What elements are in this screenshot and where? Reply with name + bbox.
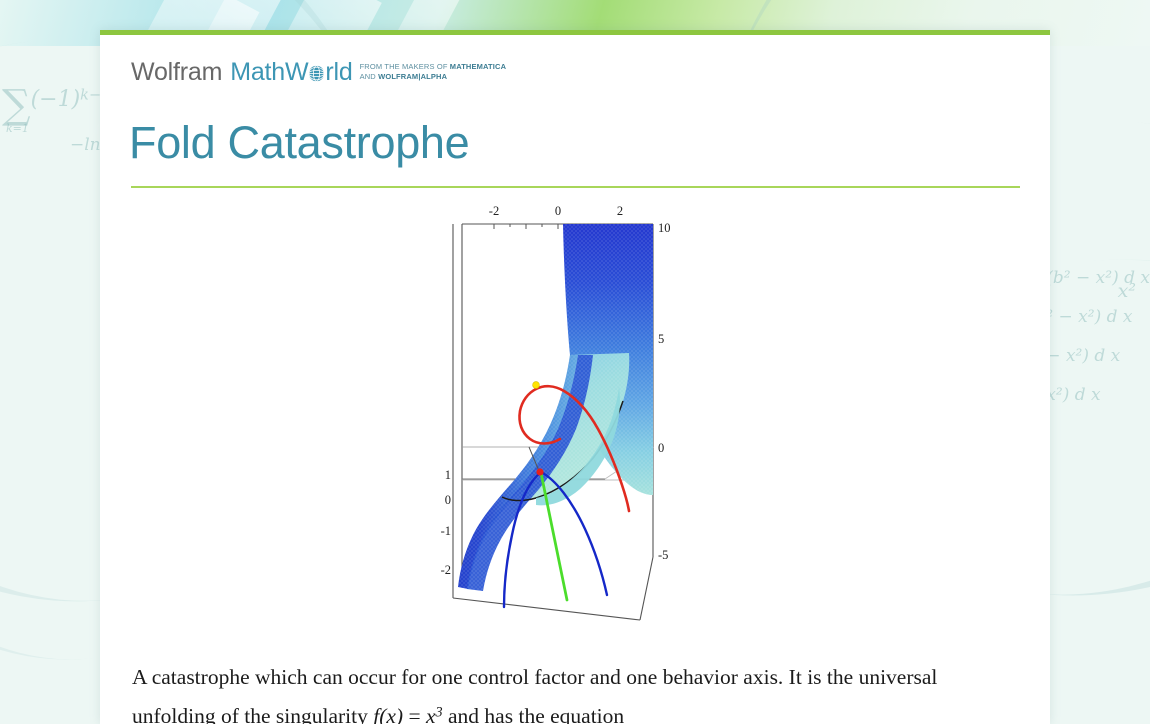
logo-math-text: Math [230, 60, 285, 85]
axis-right-tick-label: 0 [658, 441, 664, 455]
axis-top-tick-label: -2 [489, 204, 499, 218]
logo-mathworld-text[interactable]: MathW rld [230, 60, 352, 85]
axis-top-tick-label: 2 [617, 204, 623, 218]
math-of-x: (x) [379, 704, 403, 724]
background-formula-row: ² − x²) d x [1046, 309, 1150, 326]
tagline-line1: From the makers of Mathematica [360, 62, 507, 71]
background-formula-ln: −ln [70, 135, 101, 155]
title-divider [131, 186, 1020, 188]
logo-wolfram-text[interactable]: Wolfram [131, 60, 222, 85]
background-formula-row: − x²) d x [1046, 348, 1150, 365]
axis-right-tick-label: -5 [658, 548, 668, 562]
axis-left-tick-label: -2 [441, 563, 451, 577]
background-formula-integrals: (b² − x²) d x ² − x²) d x − x²) d x x²) … [1046, 270, 1150, 426]
axis-top-tick-label: 0 [555, 204, 561, 218]
fold-catastrophe-plot: -2 0 2 [440, 195, 800, 665]
axis-left: 1 0 -1 -2 [441, 468, 451, 577]
math-x: x [426, 704, 436, 724]
body-line-1: A catastrophe which can occur for one co… [132, 665, 853, 689]
background-formula-row: (b² − x²) d x [1046, 270, 1150, 287]
axis-left-tick-label: -1 [441, 524, 451, 538]
math-equals: = [408, 704, 420, 724]
content-card: Wolfram MathW rld From the makers of Mat… [100, 30, 1050, 724]
axis-left-tick-label: 1 [445, 468, 451, 482]
tagline-wolfram-alpha: Wolfram|Alpha [378, 72, 447, 81]
background-formula-row: x²) d x [1046, 387, 1150, 404]
tagline-line1-prefix: From the makers of [360, 62, 450, 71]
axis-right-tick-label: 10 [658, 221, 671, 235]
logo-tagline: From the makers of Mathematica and Wolfr… [360, 62, 507, 85]
site-header[interactable]: Wolfram MathW rld From the makers of Mat… [131, 60, 506, 85]
axis-right: 10 5 0 -5 [658, 221, 671, 562]
article-body: A catastrophe which can occur for one co… [132, 660, 1022, 724]
globe-icon [308, 62, 325, 79]
body-line-2-b: and has the equation [443, 704, 625, 724]
tagline-line2: and Wolfram|Alpha [360, 72, 448, 81]
cusp-point-marker [536, 468, 543, 475]
background-formula-sum: ∑(−1)k−1 k=1 [2, 82, 110, 128]
critical-point-marker [533, 382, 540, 389]
catastrophe-surface [458, 224, 653, 591]
page-title: Fold Catastrophe [129, 118, 469, 168]
summation-limit: k=1 [6, 122, 29, 135]
logo-rld-text: rld [325, 60, 352, 85]
axis-left-tick-label: 0 [445, 493, 451, 507]
tagline-line2-prefix: and [360, 72, 379, 81]
axis-right-tick-label: 5 [658, 332, 664, 346]
logo-w-text: W [285, 60, 308, 85]
math-x-exponent: 3 [436, 704, 443, 720]
tagline-mathematica: Mathematica [450, 62, 506, 71]
summation-body: (−1) [31, 87, 81, 112]
fold-catastrophe-figure: -2 0 2 [440, 195, 710, 655]
